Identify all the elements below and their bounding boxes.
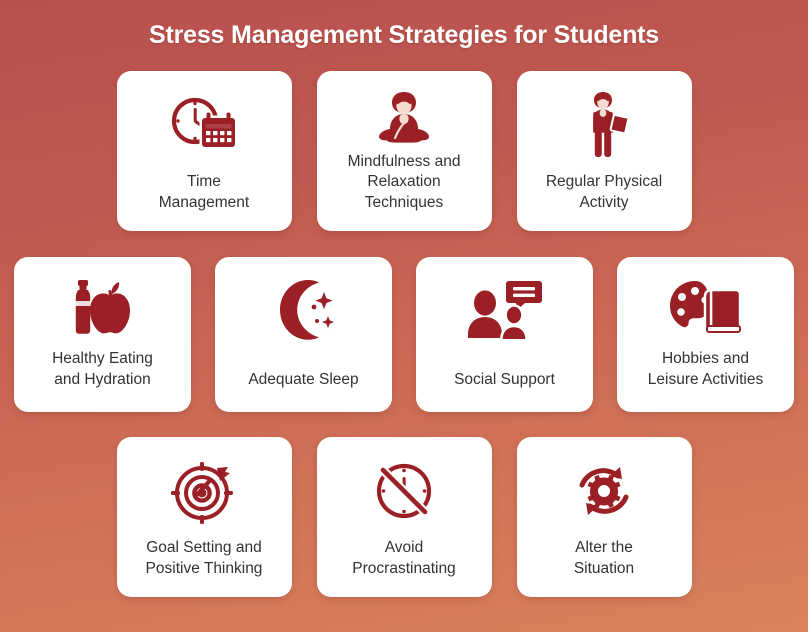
card-row-2: Healthy Eating and Hydration Adequate [0, 257, 808, 412]
card-avoid-procrastinating[interactable]: Avoid Procrastinating [317, 437, 492, 597]
card-hobbies-leisure[interactable]: Hobbies and Leisure Activities [617, 257, 794, 412]
meditation-person-icon [371, 87, 437, 152]
card-goal-setting-positive-thinking[interactable]: Goal Setting and Positive Thinking [117, 437, 292, 597]
people-speech-bubble-icon [467, 273, 543, 345]
palette-book-icon [667, 273, 745, 345]
card-label: Time Management [159, 172, 249, 219]
card-adequate-sleep[interactable]: Adequate Sleep [215, 257, 392, 412]
gear-refresh-icon [570, 453, 638, 529]
card-label: Mindfulness and Relaxation Techniques [348, 152, 461, 219]
standing-person-icon [578, 87, 630, 163]
card-row-1: Time Management Mind [0, 71, 808, 231]
card-social-support[interactable]: Social Support [416, 257, 593, 412]
card-label: Adequate Sleep [248, 370, 358, 400]
card-grid: Time Management Mind [0, 50, 808, 632]
card-alter-the-situation[interactable]: Alter the Situation [517, 437, 692, 597]
bottle-apple-icon [65, 273, 141, 345]
no-clock-icon [371, 453, 437, 529]
card-label: Hobbies and Leisure Activities [648, 349, 763, 400]
card-healthy-eating-hydration[interactable]: Healthy Eating and Hydration [14, 257, 191, 412]
card-label: Regular Physical Activity [546, 172, 662, 219]
card-regular-physical-activity[interactable]: Regular Physical Activity [517, 71, 692, 231]
card-label: Goal Setting and Positive Thinking [146, 538, 263, 585]
target-arrow-icon [171, 453, 237, 529]
card-label: Healthy Eating and Hydration [52, 349, 153, 400]
card-mindfulness-relaxation[interactable]: Mindfulness and Relaxation Techniques [317, 71, 492, 231]
card-row-3: Goal Setting and Positive Thinking [0, 437, 808, 597]
card-label: Avoid Procrastinating [352, 538, 455, 585]
page-title: Stress Management Strategies for Student… [149, 21, 659, 50]
card-label: Social Support [454, 370, 555, 400]
clock-calendar-icon [168, 87, 240, 163]
card-label: Alter the Situation [574, 538, 634, 585]
infographic-root: Stress Management Strategies for Student… [0, 0, 808, 632]
card-time-management[interactable]: Time Management [117, 71, 292, 231]
crescent-moon-stars-icon [270, 273, 338, 345]
